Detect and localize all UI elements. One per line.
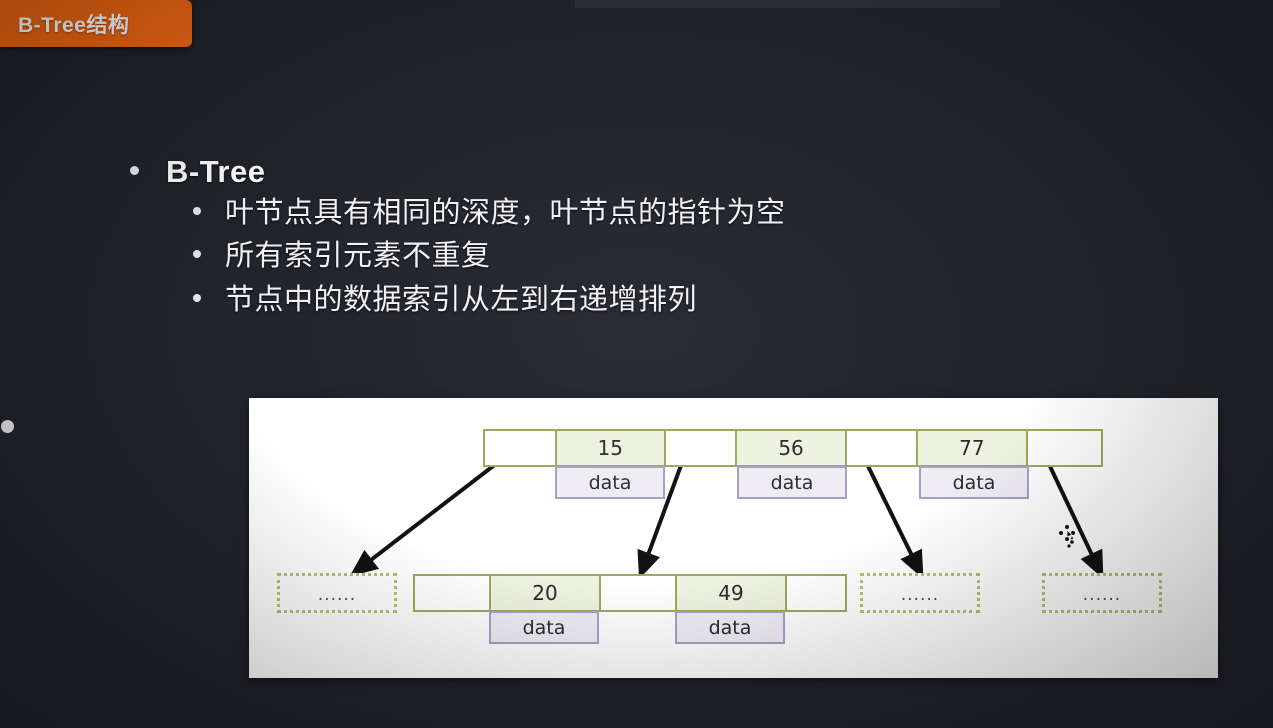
btree-level2-node: 20 49 [413, 574, 847, 612]
root-data-0: data [555, 466, 665, 499]
bullet-main: B-Tree [130, 155, 786, 189]
btree-diagram-panel: 15 56 77 data data data ...... 20 49 dat… [249, 398, 1218, 678]
top-edge-bar [575, 0, 1000, 8]
root-key-1: 56 [737, 431, 846, 465]
level2-key-1: 49 [677, 576, 787, 610]
bullet-sub-label: 节点中的数据索引从左到右递增排列 [225, 282, 697, 318]
level2-key-0: 20 [491, 576, 601, 610]
slide-canvas: B-Tree结构 B-Tree 叶节点具有相同的深度，叶节点的指针为空 所有索引… [0, 0, 1273, 728]
root-pointer-3 [1028, 431, 1102, 465]
btree-leaf-ellipsis-3: ...... [1042, 573, 1162, 613]
arrow-ptr0 [354, 460, 501, 573]
bullet-dot-icon [193, 294, 201, 302]
ellipsis-label: ...... [318, 587, 356, 604]
root-data-2: data [919, 466, 1029, 499]
btree-leaf-ellipsis-1: ...... [277, 573, 397, 613]
level2-data-0: data [489, 611, 599, 644]
offscreen-bullet-dot [1, 420, 14, 433]
root-pointer-1 [666, 431, 738, 465]
bullet-dot-icon [193, 207, 201, 215]
title-badge: B-Tree结构 [0, 0, 192, 47]
btree-leaf-ellipsis-2: ...... [860, 573, 980, 613]
bullet-list: B-Tree 叶节点具有相同的深度，叶节点的指针为空 所有索引元素不重复 节点中… [130, 155, 786, 325]
root-pointer-0 [485, 431, 557, 465]
bullet-dot-icon [193, 250, 201, 258]
bullet-sub-label: 叶节点具有相同的深度，叶节点的指针为空 [225, 195, 786, 231]
title-badge-label: B-Tree结构 [18, 9, 129, 39]
arrow-ptr2 [865, 460, 921, 574]
level2-pointer-0 [415, 576, 491, 610]
bullet-sub-2: 所有索引元素不重复 [193, 238, 786, 274]
bullet-dot-icon [130, 166, 139, 175]
bullet-sub-1: 叶节点具有相同的深度，叶节点的指针为空 [193, 195, 786, 231]
root-key-0: 15 [557, 431, 666, 465]
root-key-2: 77 [918, 431, 1027, 465]
bullet-sublist: 叶节点具有相同的深度，叶节点的指针为空 所有索引元素不重复 节点中的数据索引从左… [193, 195, 786, 318]
bullet-sub-label: 所有索引元素不重复 [225, 238, 491, 274]
level2-pointer-1 [601, 576, 677, 610]
root-data-1: data [737, 466, 847, 499]
bullet-sub-3: 节点中的数据索引从左到右递增排列 [193, 282, 786, 318]
arrow-ptr3 [1047, 460, 1101, 574]
ellipsis-label: ...... [901, 587, 939, 604]
ellipsis-label: ...... [1083, 587, 1121, 604]
level2-pointer-2 [787, 576, 845, 610]
bullet-main-label: B-Tree [166, 155, 265, 189]
root-pointer-2 [847, 431, 919, 465]
level2-data-1: data [675, 611, 785, 644]
btree-root-node: 15 56 77 [483, 429, 1103, 467]
mouse-cursor-icon [1058, 524, 1082, 552]
